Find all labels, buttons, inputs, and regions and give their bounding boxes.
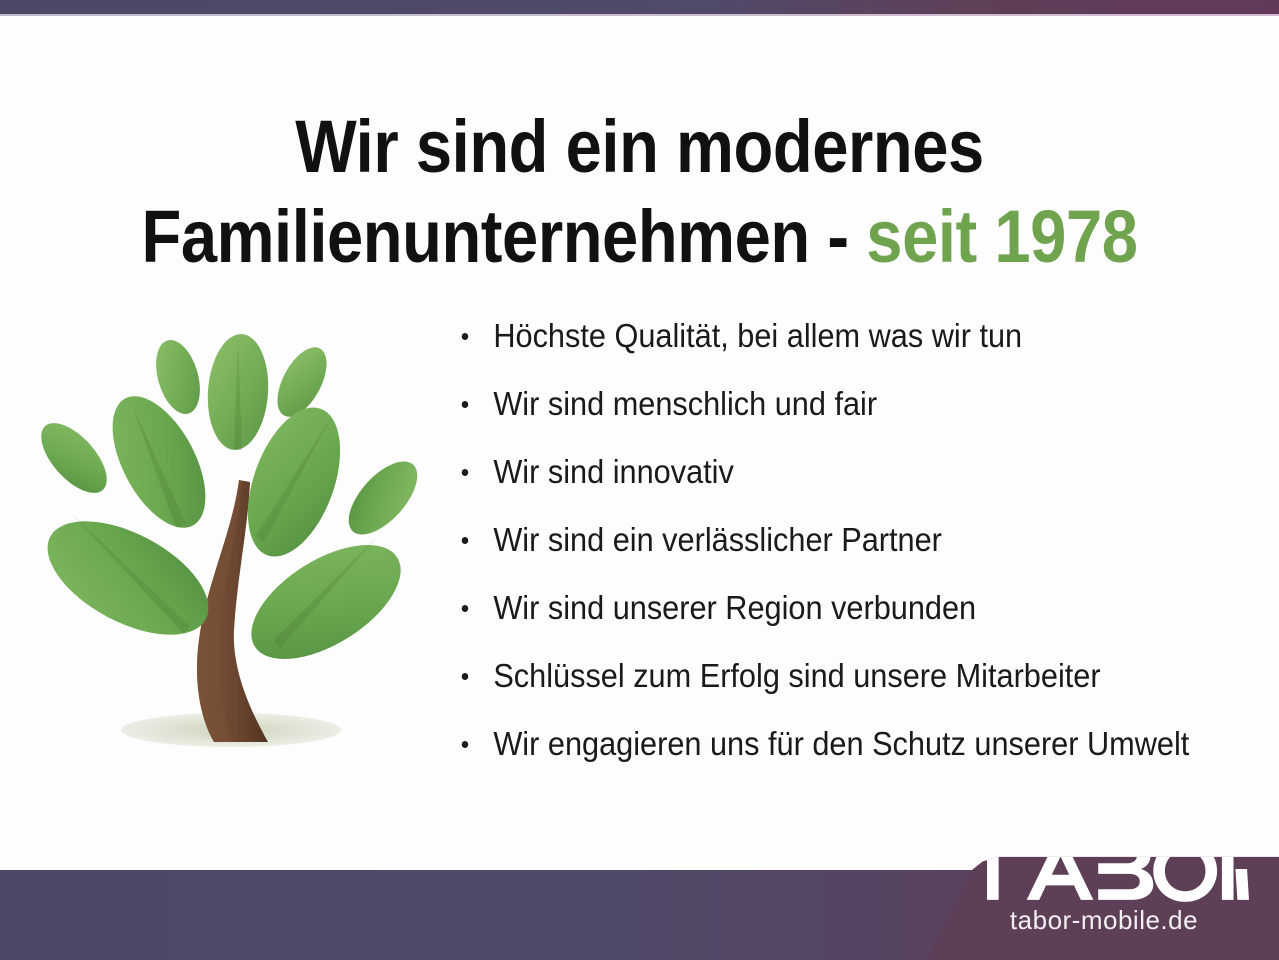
- bullet-icon: [462, 401, 469, 408]
- list-item: Wir sind unserer Region verbunden: [458, 574, 1211, 642]
- list-item: Wir sind innovativ: [458, 438, 1211, 506]
- slide-canvas: Wir sind ein modernes Familienunternehme…: [0, 0, 1279, 960]
- brand-logo: tabor-mobile.de: [959, 840, 1249, 936]
- brand-url: tabor-mobile.de: [959, 904, 1249, 936]
- bullet-icon: [462, 741, 469, 748]
- list-item-label: Höchste Qualität, bei allem was wir tun: [493, 317, 1022, 354]
- tree-icon: [26, 330, 446, 760]
- list-item: Wir sind menschlich und fair: [458, 370, 1211, 438]
- tabor-wordmark: [959, 840, 1249, 902]
- list-item: Wir engagieren uns für den Schutz unsere…: [458, 710, 1211, 778]
- headline-accent-seit-1978: seit 1978: [866, 195, 1137, 278]
- bullet-icon: [462, 673, 469, 680]
- bullet-icon: [462, 537, 469, 544]
- list-item: Schlüssel zum Erfolg sind unsere Mitarbe…: [458, 642, 1211, 710]
- headline-line-2: Familienunternehmen - seit 1978: [77, 192, 1203, 282]
- headline-line-2-plain: Familienunternehmen -: [141, 195, 866, 278]
- list-item-label: Wir sind menschlich und fair: [493, 385, 877, 422]
- bullet-icon: [462, 469, 469, 476]
- bullet-icon: [462, 333, 469, 340]
- list-item-label: Schlüssel zum Erfolg sind unsere Mitarbe…: [493, 657, 1100, 694]
- list-item-label: Wir sind ein verlässlicher Partner: [493, 521, 942, 558]
- list-item-label: Wir sind unserer Region verbunden: [493, 589, 976, 626]
- headline-line-1: Wir sind ein modernes: [77, 102, 1203, 192]
- list-item: Höchste Qualität, bei allem was wir tun: [458, 302, 1211, 370]
- list-item-label: Wir engagieren uns für den Schutz unsere…: [493, 725, 1189, 762]
- top-accent-bar: [0, 0, 1279, 14]
- value-bullet-list: Höchste Qualität, bei allem was wir tun …: [458, 302, 1268, 778]
- bullet-icon: [462, 605, 469, 612]
- page-title: Wir sind ein modernes Familienunternehme…: [77, 102, 1203, 282]
- top-accent-hairline: [0, 14, 1279, 16]
- list-item: Wir sind ein verlässlicher Partner: [458, 506, 1211, 574]
- list-item-label: Wir sind innovativ: [493, 453, 733, 490]
